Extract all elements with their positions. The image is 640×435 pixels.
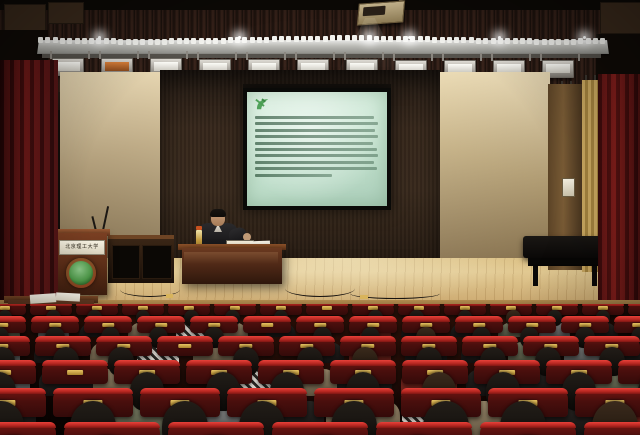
truss-highlight [82,38,87,44]
audience-seat [0,422,56,435]
light-glint [368,36,371,39]
slide-text-line [255,174,332,177]
truss-highlight [38,37,43,43]
fixture-yoke [197,52,237,60]
ceiling-beam [0,0,640,10]
truss-highlight [250,37,255,43]
seat-number-plate [178,344,191,348]
slide-text-line [255,148,377,151]
truss-highlight [410,36,415,42]
truss-highlight [118,39,123,45]
slide-text-line [255,129,375,132]
truss-highlight [104,38,109,44]
truss-highlight [374,36,379,42]
podium-nameplate: 北京理工大学 [59,240,105,255]
truss-highlight [418,36,423,42]
slide-text-line [255,122,378,125]
truss-highlight [184,38,189,44]
fixture-yoke [442,53,482,61]
light-glint [498,36,501,39]
audience-seat [376,422,472,435]
stage-curtain-right-folds [598,74,640,314]
seat-number-plate [261,323,273,327]
truss-highlight [60,38,65,44]
fixture-yoke [393,53,433,61]
audience-seat [628,304,640,315]
fixture-yoke [491,53,531,61]
fixture-lens [105,62,129,71]
slide-text-line [255,142,373,145]
truss-highlight [476,38,481,44]
projection-screen-frame [243,88,391,210]
light-glint [408,36,411,39]
truss-highlight [520,38,525,44]
truss-highlight [286,36,291,42]
podium-nameplate-text: 北京理工大学 [60,243,104,250]
truss-highlight [330,35,335,41]
truss-highlight [301,36,306,42]
truss-highlight [126,39,131,45]
audience-seat [42,360,108,384]
truss-highlight [505,38,510,44]
truss-highlight [527,38,532,44]
cabinet-panel [142,245,172,279]
stage-cabinet-left [108,235,174,283]
truss-highlight [491,38,496,44]
truss-highlight [155,39,160,45]
truss-highlight [315,36,320,42]
truss-highlight [352,35,357,41]
truss-highlight [564,39,569,45]
truss-highlight [257,37,262,43]
lighting-truss [38,28,608,76]
truss-highlight [308,36,313,42]
piano-leg [533,264,538,286]
truss-highlight [191,38,196,44]
slide-text-block [255,116,379,180]
light-glint [583,36,586,39]
cable-connector [166,294,173,298]
truss-highlight [469,37,474,43]
floor-cable [285,280,355,297]
truss-highlight [206,38,211,44]
slide-text-line [255,167,377,170]
truss-highlight [294,36,299,42]
balcony-edge-left-2 [48,2,84,24]
bottle-cap [196,226,202,230]
audience-seat [168,422,264,435]
slide-text-line [255,154,378,157]
audience-seat [157,336,213,356]
truss-highlight [272,36,277,42]
truss-highlight [461,37,466,43]
stage-curtain-left-folds [0,60,58,310]
audience-seat [480,422,576,435]
front-table-paper [56,292,80,301]
truss-highlight [454,37,459,43]
truss-highlight [440,37,445,43]
truss-highlight [359,35,364,41]
truss-highlight [148,39,153,45]
truss-highlight [345,35,350,41]
truss-highlight [213,38,218,44]
cabinet-panel [112,245,140,279]
truss-highlight [549,39,554,45]
fixture-yoke [148,51,188,59]
fixture-lens [56,62,80,71]
audience-seat [584,422,640,435]
fixture-yoke [295,52,335,60]
truss-highlight [89,38,94,44]
truss-highlight [593,38,598,44]
seat-number-plate [322,306,332,310]
fixture-yoke [540,53,580,61]
hammer-and-sickle-emblem [254,97,273,112]
truss-highlight [53,37,58,43]
truss-highlight [221,38,226,44]
truss-highlight [586,38,591,44]
front-table-paper [30,293,57,304]
truss-highlight [600,38,605,44]
truss-highlight [337,35,342,41]
truss-highlight [199,38,204,44]
truss-highlight [578,38,583,44]
truss-highlight [96,38,101,44]
truss-highlight [432,37,437,43]
projection-screen [247,92,387,206]
audience-seat [243,316,291,333]
truss-highlight [388,36,393,42]
truss-highlight [556,39,561,45]
seat-number-plate [67,370,83,375]
university-crest-ring [66,258,96,288]
fixture-yoke [246,52,286,60]
slide-text-line [255,161,374,164]
truss-highlight [513,38,518,44]
truss-highlight [133,39,138,45]
slide-text-line [255,116,374,119]
audience-seat [618,360,640,384]
cable-connector [360,295,368,299]
audience-seat [272,422,368,435]
audience-seat [306,304,348,315]
audience-area [0,304,640,435]
light-glint [98,36,101,39]
truss-highlight [67,38,72,44]
fixture-yoke [344,52,384,60]
audience-seat [64,422,160,435]
truss-highlight [396,36,401,42]
wall-light-fixture [562,178,575,197]
truss-highlight [542,39,547,45]
truss-highlight [381,36,386,42]
auditorium-photo: 北京理工大学 [0,0,640,435]
truss-highlight [264,37,269,43]
truss-highlight [75,38,80,44]
speaker-hair [210,209,226,217]
fixture-yoke [50,51,90,59]
truss-highlight [534,39,539,45]
truss-highlight [162,39,167,45]
slide-text-line [255,135,378,138]
truss-highlight [111,38,116,44]
truss-highlight [483,38,488,44]
fixture-yoke [99,51,139,59]
truss-highlight [242,37,247,43]
truss-highlight [279,36,284,42]
speaker-desk-sheen [184,252,278,264]
truss-highlight [140,39,145,45]
truss-highlight [425,36,430,42]
truss-highlight [45,37,50,43]
piano-leg [592,264,597,286]
truss-highlight [169,38,174,44]
truss-highlight [447,37,452,43]
truss-highlight [177,38,182,44]
truss-highlight [571,39,576,45]
truss-highlight [228,37,233,43]
truss-highlight [323,36,328,42]
light-glint [238,36,241,39]
